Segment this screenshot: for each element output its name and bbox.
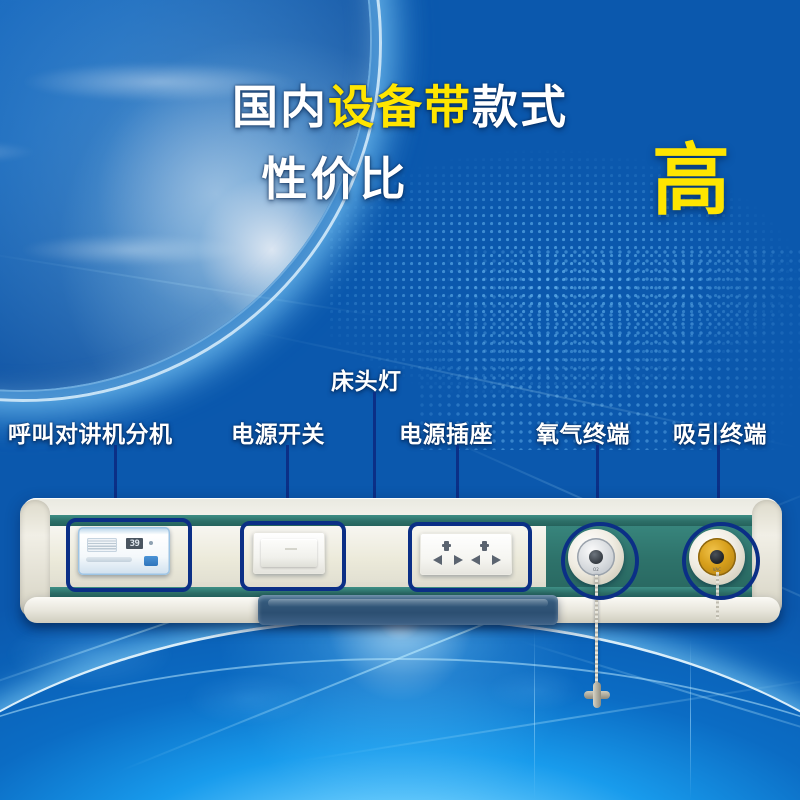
power-socket-unit[interactable] <box>420 533 512 575</box>
intercom-led-indicator <box>149 541 153 545</box>
outlet-earth-pin-icon <box>482 541 487 551</box>
light-streak-vertical <box>534 630 535 800</box>
suction-terminal-face: VAC <box>698 538 736 576</box>
bed-lamp-diffuser[interactable] <box>258 595 558 625</box>
outlet-live-pin-icon <box>471 555 480 565</box>
bed-lamp-gloss <box>268 599 548 607</box>
outlet-neutral-pin-icon <box>492 555 501 565</box>
panel-stripe-top <box>46 515 756 526</box>
intercom-speaker-grille-icon <box>87 538 117 552</box>
intercom-handset-slot <box>86 557 132 562</box>
power-switch-mark <box>285 548 297 550</box>
nurse-call-intercom-unit[interactable]: 39 <box>78 527 170 575</box>
promo-banner: 国内设备带款式 性价比 高 呼叫对讲机分机 电源开关 床头灯 电源插座 氧气终端… <box>0 0 800 800</box>
headline-emphasis-word: 高 <box>652 142 730 220</box>
callout-power-socket: 电源插座 <box>399 415 493 449</box>
intercom-call-button[interactable] <box>144 556 158 566</box>
suction-terminal-port-icon <box>710 550 724 564</box>
outlet-live-pin-icon <box>433 555 442 565</box>
outlet-earth-pin-icon <box>444 541 449 551</box>
callout-bed-lamp: 床头灯 <box>331 362 402 396</box>
pull-cord-pendant[interactable] <box>584 682 610 708</box>
callout-power-switch: 电源开关 <box>231 415 325 449</box>
callout-intercom: 呼叫对讲机分机 <box>8 415 173 449</box>
power-switch-rocker[interactable] <box>261 539 317 567</box>
pendant-vertical-bar <box>593 682 601 708</box>
callout-oxygen-terminal: 氧气终端 <box>536 415 630 449</box>
power-outlet-left[interactable] <box>430 541 466 567</box>
oxygen-terminal-label: O2 <box>577 567 615 572</box>
power-switch-unit[interactable] <box>253 532 325 574</box>
callout-suction-terminal: 吸引终端 <box>673 415 767 449</box>
outlet-neutral-pin-icon <box>454 555 463 565</box>
light-streak-vertical <box>690 640 691 800</box>
oxygen-terminal-face: O2 <box>577 538 615 576</box>
oxygen-pull-cord[interactable] <box>595 575 598 693</box>
oxygen-terminal-port-icon <box>589 550 603 564</box>
intercom-display: 39 <box>126 538 143 549</box>
power-outlet-right[interactable] <box>468 541 504 567</box>
suction-pull-cord[interactable] <box>716 572 719 620</box>
